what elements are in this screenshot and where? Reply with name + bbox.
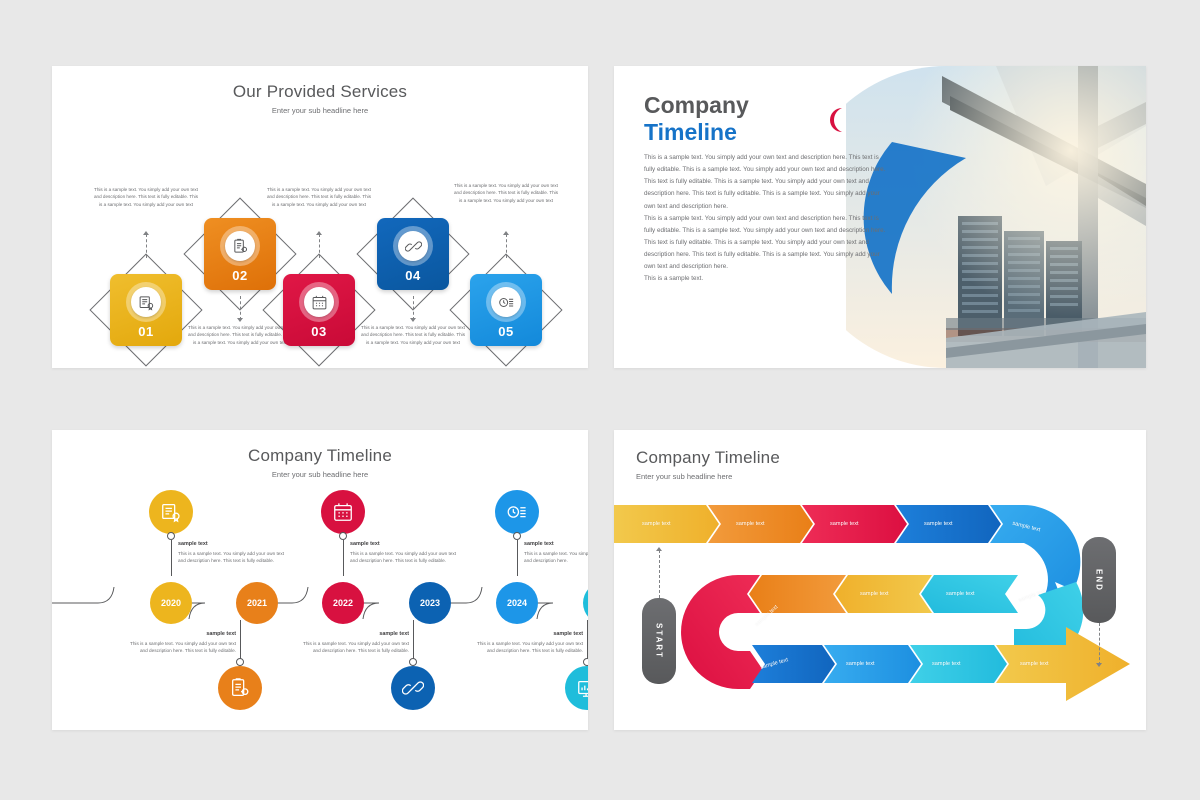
milestone-2020-heading: sample text xyxy=(178,540,290,549)
step-02-number: 02 xyxy=(232,268,247,283)
milestone-2025-text: sample text This is a sample text. You s… xyxy=(471,630,583,655)
link-broken-icon xyxy=(398,231,428,261)
milestone-2023-year-label: 2023 xyxy=(420,598,440,608)
step-05-description: This is a sample text. You simply add yo… xyxy=(452,182,560,204)
milestone-2022-body: This is a sample text. You simply add yo… xyxy=(350,551,456,564)
timeline-area: sample text This is a sample text. You s… xyxy=(52,430,588,730)
end-connector xyxy=(1099,623,1100,665)
milestone-2023-text: sample text This is a sample text. You s… xyxy=(297,630,409,655)
milestone-2022-year[interactable]: 2022 xyxy=(322,582,364,624)
step-01-icon-bubble xyxy=(126,282,166,322)
snake-row1-label-3: sample text xyxy=(830,521,859,527)
milestone-2021-heading: sample text xyxy=(124,630,236,639)
milestone-2020-body: This is a sample text. You simply add yo… xyxy=(178,551,284,564)
step-05-number: 05 xyxy=(498,324,513,339)
milestone-2022-dot xyxy=(339,532,347,540)
milestone-2024-body: This is a sample text. You simply add yo… xyxy=(524,551,588,564)
milestone-2022-text: sample text This is a sample text. You s… xyxy=(350,540,462,565)
calendar-icon xyxy=(304,287,334,317)
step-02-icon-bubble xyxy=(220,226,260,266)
slide-company-timeline-hero[interactable]: Company Timeline This is a sample text. … xyxy=(614,66,1146,368)
milestone-2022-stem xyxy=(343,540,344,576)
milestone-2025-heading: sample text xyxy=(471,630,583,639)
step-01-description: This is a sample text. You simply add yo… xyxy=(92,186,200,208)
snake-row2-label-2: sample text xyxy=(946,591,975,597)
hero-text-block: Company Timeline This is a sample text. … xyxy=(644,92,889,285)
hero-paragraph-2: This is a sample text. You simply add yo… xyxy=(644,213,889,273)
step-05-arrow-icon xyxy=(503,231,509,235)
clock-list-icon xyxy=(491,287,521,317)
milestone-2020-year-label: 2020 xyxy=(161,598,181,608)
slide-our-provided-services[interactable]: Our Provided Services Enter your sub hea… xyxy=(52,66,588,368)
milestone-2020-year[interactable]: 2020 xyxy=(150,582,192,624)
milestone-2022-year-label: 2022 xyxy=(333,598,353,608)
snake-row1-label-1: sample text xyxy=(642,521,671,527)
milestone-2020-icon-circle[interactable] xyxy=(149,490,193,534)
snake-arrows xyxy=(614,430,1146,730)
hero-title-line2: Timeline xyxy=(644,119,889,146)
step-02-arrow-icon xyxy=(237,318,243,322)
milestone-2022-icon-circle[interactable] xyxy=(321,490,365,534)
presentation-previews-canvas: Our Provided Services Enter your sub hea… xyxy=(0,0,1200,800)
milestone-2024-icon-circle[interactable] xyxy=(495,490,539,534)
step-02-description: This is a sample text. You simply add yo… xyxy=(186,324,294,346)
milestone-2024-dot xyxy=(513,532,521,540)
presentation-chart-icon xyxy=(576,677,588,699)
snake-row1-label-2: sample text xyxy=(736,521,765,527)
milestone-2025-dot xyxy=(583,658,588,666)
step-03-icon-bubble xyxy=(299,282,339,322)
hero-paragraphs: This is a sample text. You simply add yo… xyxy=(644,152,889,285)
end-badge[interactable]: END xyxy=(1082,537,1116,623)
end-arrow-icon xyxy=(1096,663,1102,667)
hero-photo-area xyxy=(846,66,1146,368)
milestone-2023-heading: sample text xyxy=(297,630,409,639)
timeline-baseline xyxy=(52,430,588,730)
step-04-arrow-icon xyxy=(410,318,416,322)
milestone-2025-body: This is a sample text. You simply add yo… xyxy=(477,641,583,654)
milestone-2020-dot xyxy=(167,532,175,540)
milestone-2024-year-label: 2024 xyxy=(507,598,527,608)
clock-list-icon xyxy=(506,501,528,523)
milestone-2023-stem xyxy=(413,620,414,662)
milestone-2021-dot xyxy=(236,658,244,666)
milestone-2023-body: This is a sample text. You simply add yo… xyxy=(303,641,409,654)
step-01-arrow-icon xyxy=(143,231,149,235)
step-04-description: This is a sample text. You simply add yo… xyxy=(359,324,467,346)
milestone-2023-year[interactable]: 2023 xyxy=(409,582,451,624)
milestone-2023-icon-circle[interactable] xyxy=(391,666,435,710)
milestone-2021-year-label: 2021 xyxy=(247,598,267,608)
certificate-document-icon xyxy=(160,501,182,523)
slide-company-timeline-snake[interactable]: Company Timeline Enter your sub headline… xyxy=(614,430,1146,730)
step-04-card[interactable]: 04 xyxy=(377,218,449,290)
start-arrow-icon xyxy=(656,547,662,551)
services-steps-area: This is a sample text. You simply add yo… xyxy=(52,118,588,368)
step-02-connector xyxy=(240,296,241,320)
snake-process-diagram: sample text sample text sample text samp… xyxy=(614,430,1146,730)
hero-paragraph-3: This is a sample text. xyxy=(644,273,889,285)
start-label: START xyxy=(655,623,664,659)
red-crescent-icon xyxy=(822,106,846,134)
page-subtitle: Enter your sub headline here xyxy=(52,106,588,115)
step-05-card[interactable]: 05 xyxy=(470,274,542,346)
page-title: Our Provided Services xyxy=(52,82,588,102)
start-connector xyxy=(659,550,660,598)
certificate-document-icon xyxy=(131,287,161,317)
milestone-2021-stem xyxy=(240,620,241,662)
milestone-2020-text: sample text This is a sample text. You s… xyxy=(178,540,290,565)
snake-row1-label-4: sample text xyxy=(924,521,953,527)
milestone-2023-dot xyxy=(409,658,417,666)
step-01-number: 01 xyxy=(138,324,153,339)
milestone-2024-heading: sample text xyxy=(524,540,588,549)
step-03-card[interactable]: 03 xyxy=(283,274,355,346)
step-03-description: This is a sample text. You simply add yo… xyxy=(265,186,373,208)
hero-graphic xyxy=(846,66,1146,368)
hero-title-line1: Company xyxy=(644,92,889,119)
snake-row2-label-3: sample text xyxy=(860,591,889,597)
step-03-arrow-icon xyxy=(316,231,322,235)
milestone-2025-stem xyxy=(587,620,588,662)
milestone-2021-icon-circle[interactable] xyxy=(218,666,262,710)
end-label: END xyxy=(1095,569,1104,592)
snake-row3-label-4: sample text xyxy=(1020,661,1049,667)
slide1-header: Our Provided Services Enter your sub hea… xyxy=(52,66,588,115)
calendar-icon xyxy=(332,501,354,523)
slide-company-timeline-circles[interactable]: Company Timeline Enter your sub headline… xyxy=(52,430,588,730)
step-02-card[interactable]: 02 xyxy=(204,218,276,290)
snake-row3-label-2: sample text xyxy=(846,661,875,667)
step-04-number: 04 xyxy=(405,268,420,283)
milestone-2024-text: sample text This is a sample text. You s… xyxy=(524,540,588,565)
step-01-card[interactable]: 01 xyxy=(110,274,182,346)
clipboard-gear-icon xyxy=(229,677,251,699)
milestone-2024-year[interactable]: 2024 xyxy=(496,582,538,624)
hero-paragraph-1: This is a sample text. You simply add yo… xyxy=(644,152,889,212)
step-05-icon-bubble xyxy=(486,282,526,322)
step-04-icon-bubble xyxy=(393,226,433,266)
start-badge[interactable]: START xyxy=(642,598,676,684)
milestone-2024-stem xyxy=(517,540,518,576)
milestone-2021-body: This is a sample text. You simply add yo… xyxy=(130,641,236,654)
step-04-connector xyxy=(413,296,414,320)
step-03-number: 03 xyxy=(311,324,326,339)
clipboard-gear-icon xyxy=(225,231,255,261)
milestone-2021-text: sample text This is a sample text. You s… xyxy=(124,630,236,655)
snake-row3-label-3: sample text xyxy=(932,661,961,667)
milestone-2022-heading: sample text xyxy=(350,540,462,549)
link-broken-icon xyxy=(402,677,424,699)
milestone-2020-stem xyxy=(171,540,172,576)
milestone-2021-year[interactable]: 2021 xyxy=(236,582,278,624)
